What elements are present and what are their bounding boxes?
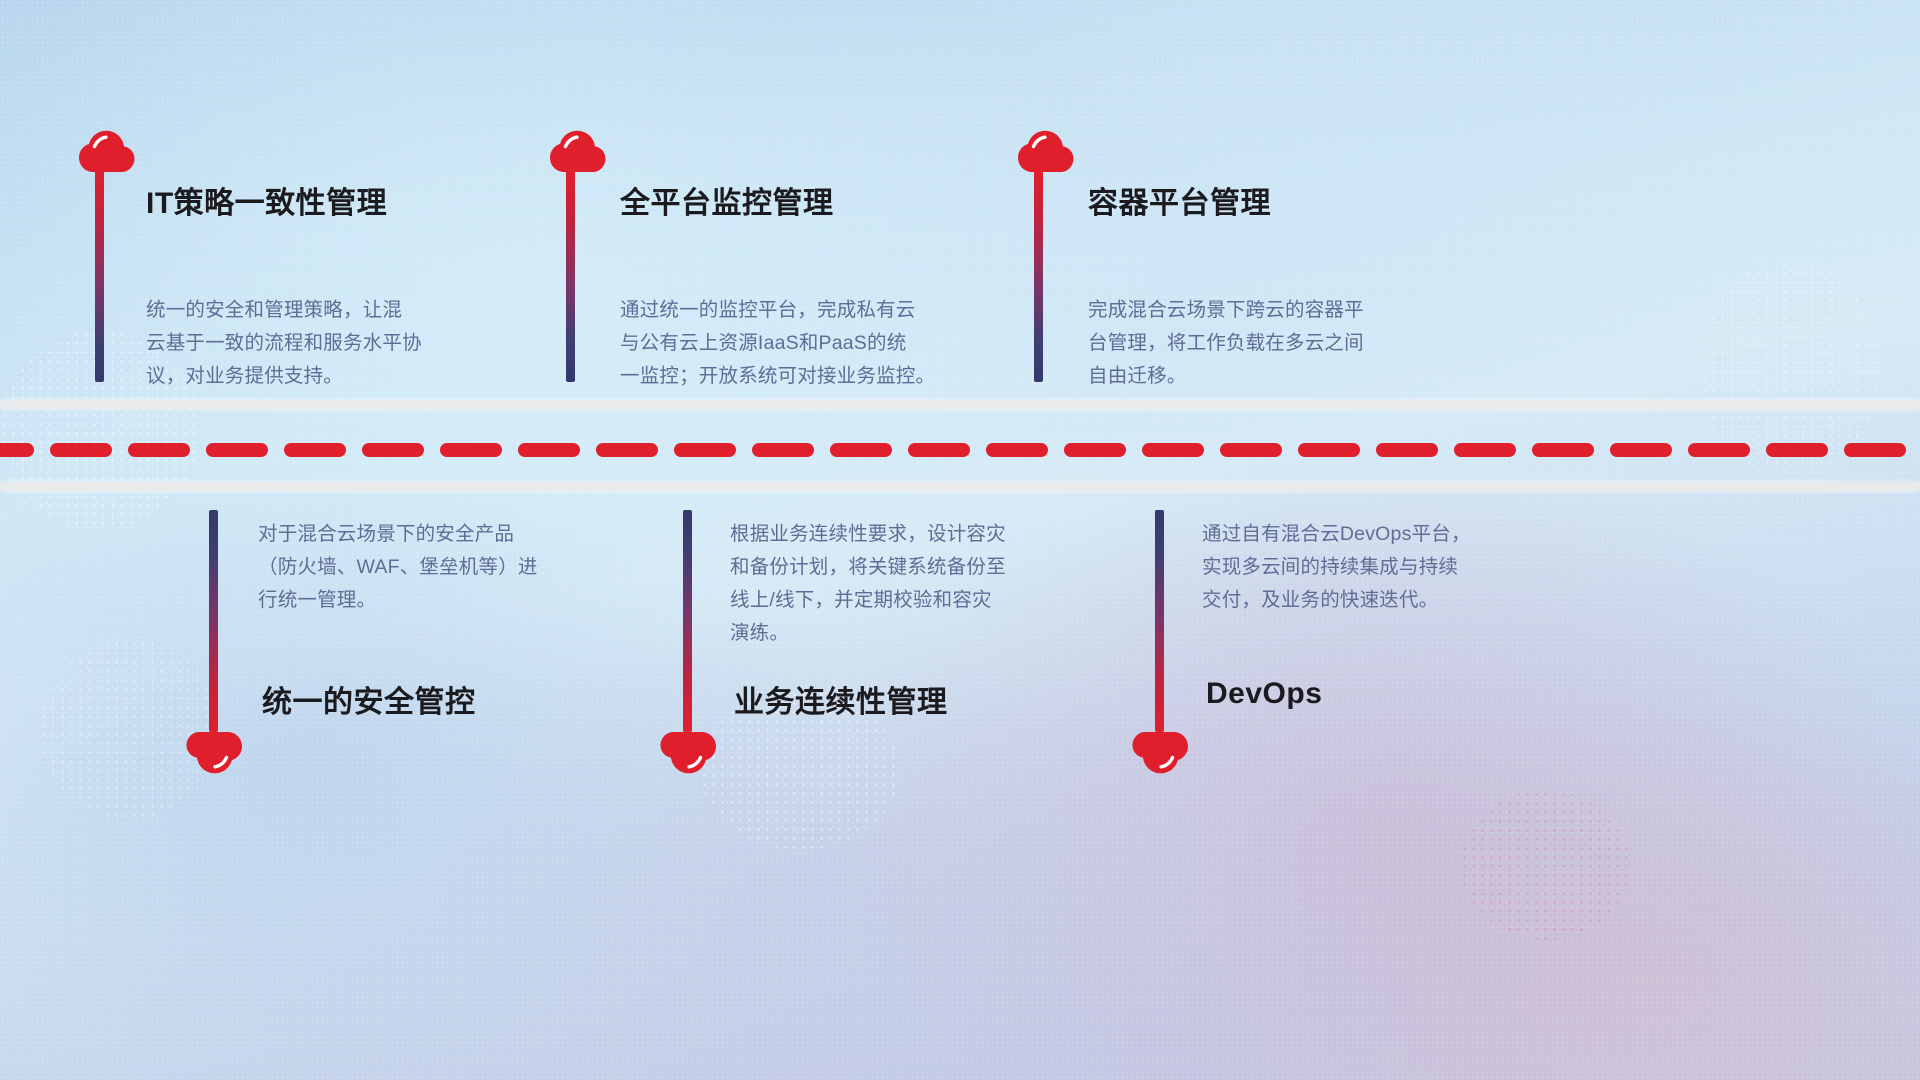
cloud-pin-icon — [78, 129, 136, 173]
bottom-item-3-description: 通过自有混合云DevOps平台， 实现多云间的持续集成与持续 交付，及业务的快速… — [1202, 518, 1574, 617]
road-dash — [0, 443, 34, 457]
road-dash — [1454, 443, 1516, 457]
road-dash — [1298, 443, 1360, 457]
road-edge-line-bottom — [0, 482, 1920, 491]
road-dash — [1844, 443, 1906, 457]
road-dash — [1064, 443, 1126, 457]
road-dash — [128, 443, 190, 457]
road-dash — [1610, 443, 1672, 457]
road-dash — [1142, 443, 1204, 457]
connector-bar — [1155, 510, 1164, 732]
connector-bar — [1034, 170, 1043, 382]
bottom-item-2-description: 根据业务连续性要求，设计容灾 和备份计划，将关键系统备份至 线上/线下，并定期校… — [730, 518, 1082, 650]
road-dash — [284, 443, 346, 457]
road-dash — [908, 443, 970, 457]
road-dash — [362, 443, 424, 457]
cloud-pin-icon — [185, 731, 243, 775]
connector-bar — [95, 170, 104, 382]
road-dash — [1688, 443, 1750, 457]
bottom-item-3-title: DevOps — [1206, 677, 1322, 711]
road-dash — [986, 443, 1048, 457]
top-item-3-description: 完成混合云场景下跨云的容器平 台管理，将工作负载在多云之间 自由迁移。 — [1088, 294, 1460, 393]
connector-bar — [683, 510, 692, 732]
infographic-canvas: IT策略一致性管理 统一的安全和管理策略，让混 云基于一致的流程和服务水平协 议… — [0, 0, 1920, 1080]
top-item-3-title: 容器平台管理 — [1088, 178, 1271, 222]
top-item-2-title: 全平台监控管理 — [620, 178, 834, 222]
cloud-pin-icon — [659, 731, 717, 775]
cloud-pin-icon — [1131, 731, 1189, 775]
road-dash — [50, 443, 112, 457]
road-dash — [674, 443, 736, 457]
road-dash — [1220, 443, 1282, 457]
speckle-texture-lower-left — [40, 640, 220, 820]
road-dash — [206, 443, 268, 457]
cloud-pin-icon — [1017, 129, 1075, 173]
bottom-item-1-title: 统一的安全管控 — [262, 677, 476, 721]
road-center-dashes — [0, 443, 1920, 457]
cloud-pin-icon — [549, 129, 607, 173]
road-dash — [440, 443, 502, 457]
road-dash — [596, 443, 658, 457]
bottom-item-2-title: 业务连续性管理 — [734, 677, 948, 721]
road-dash — [1376, 443, 1438, 457]
road-dash — [1532, 443, 1594, 457]
top-item-2-description: 通过统一的监控平台，完成私有云 与公有云上资源IaaS和PaaS的统 一监控；开… — [620, 294, 1012, 393]
road-dash — [830, 443, 892, 457]
road-dash — [752, 443, 814, 457]
top-item-1-description: 统一的安全和管理策略，让混 云基于一致的流程和服务水平协 议，对业务提供支持。 — [146, 294, 518, 393]
connector-bar — [209, 510, 218, 732]
road-dash — [518, 443, 580, 457]
road-dash — [1766, 443, 1828, 457]
speckle-texture-right-pink — [1460, 790, 1630, 940]
road-edge-line-top — [0, 400, 1920, 409]
bottom-item-1-description: 对于混合云场景下的安全产品 （防火墙、WAF、堡垒机等）进 行统一管理。 — [258, 518, 610, 617]
top-item-1-title: IT策略一致性管理 — [146, 178, 387, 222]
connector-bar — [566, 170, 575, 382]
